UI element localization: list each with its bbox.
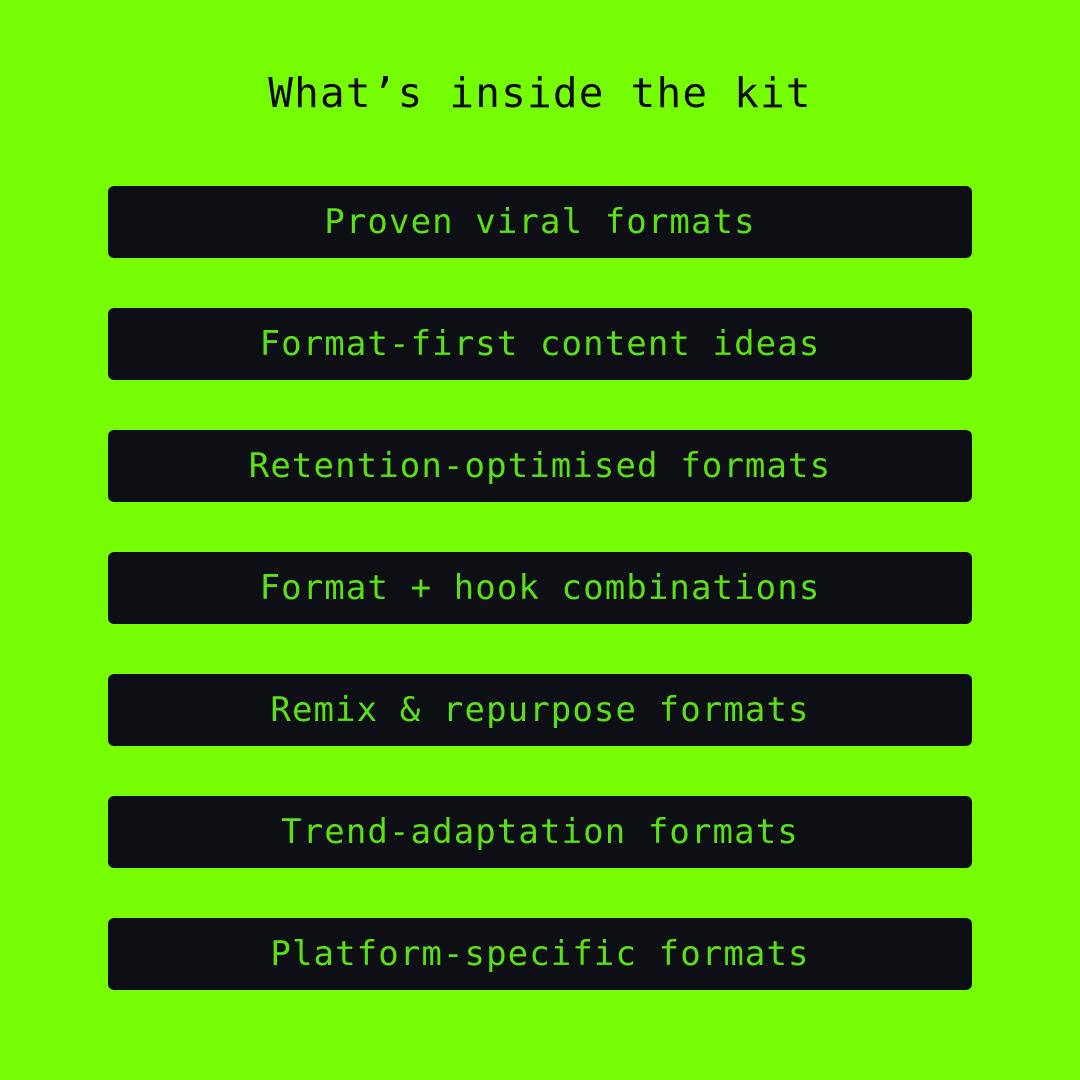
kit-item-label: Retention-optimised formats: [249, 449, 831, 483]
list-item[interactable]: Trend-adaptation formats: [108, 796, 972, 868]
kit-item-label: Remix & repurpose formats: [270, 693, 809, 727]
list-item[interactable]: Proven viral formats: [108, 186, 972, 258]
list-item[interactable]: Format + hook combinations: [108, 552, 972, 624]
kit-item-list: Proven viral formats Format-first conten…: [108, 186, 972, 990]
list-item[interactable]: Remix & repurpose formats: [108, 674, 972, 746]
kit-item-label: Trend-adaptation formats: [281, 815, 799, 849]
page-title: What’s inside the kit: [0, 0, 1080, 186]
list-item[interactable]: Format-first content ideas: [108, 308, 972, 380]
kit-contents-poster: What’s inside the kit Proven viral forma…: [0, 0, 1080, 1080]
list-item[interactable]: Platform-specific formats: [108, 918, 972, 990]
kit-item-label: Format-first content ideas: [260, 327, 821, 361]
kit-item-label: Proven viral formats: [324, 205, 755, 239]
list-item[interactable]: Retention-optimised formats: [108, 430, 972, 502]
kit-item-label: Format + hook combinations: [260, 571, 821, 605]
kit-item-label: Platform-specific formats: [270, 937, 809, 971]
